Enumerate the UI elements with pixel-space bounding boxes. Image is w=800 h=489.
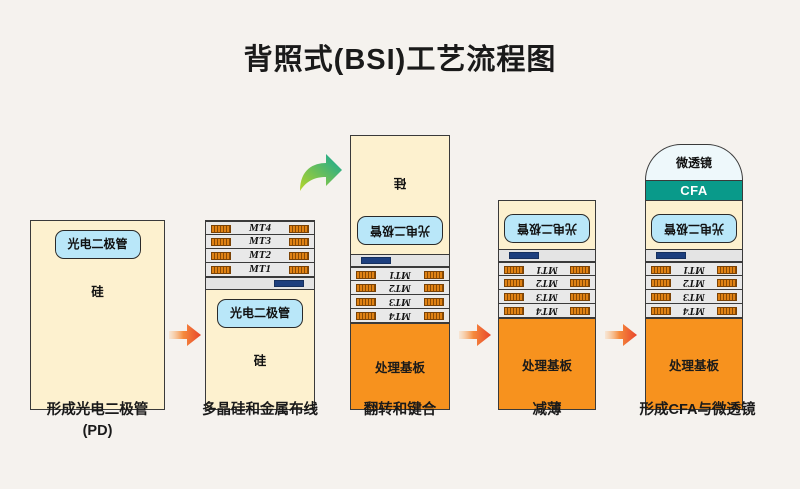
metal-label: MT1 [683, 264, 705, 275]
via-icon [651, 293, 671, 301]
metal-layer-mt1: MT1 [206, 263, 314, 277]
caption-step-3: 翻转和键合 [340, 400, 460, 421]
handle-substrate: 处理基板 [499, 318, 595, 409]
arrow-step1-to-step2 [168, 322, 202, 348]
metal-label: MT4 [536, 305, 558, 316]
step-1-stack: 光电二极管 硅 [30, 220, 165, 410]
via-icon [356, 284, 376, 292]
via-icon [717, 266, 737, 274]
poly-layer [646, 249, 742, 262]
via-icon [717, 279, 737, 287]
metal-stack-flipped: MT1 MT2 MT3 MT4 [351, 267, 449, 323]
metal-layer-mt3: MT3 [206, 235, 314, 249]
caption-step-1: 形成光电二极管 (PD) [10, 400, 185, 442]
metal-layer-mt4: MT4 [646, 304, 742, 318]
caption-line-1: 翻转和键合 [340, 400, 460, 421]
photodiode-box: 光电二极管 [357, 216, 443, 245]
via-icon [717, 293, 737, 301]
arrow-step3-to-step4 [458, 322, 492, 348]
metal-label: MT3 [389, 296, 411, 307]
cfa-layer: CFA [646, 181, 742, 201]
caption-line-2: (PD) [10, 421, 185, 442]
step-4: 光电二极管 MT1 MT2 [498, 125, 596, 410]
caption-step-2: 多晶硅和金属布线 [180, 400, 340, 421]
metal-label: MT2 [389, 282, 411, 293]
metal-label: MT3 [536, 291, 558, 302]
metal-layer-mt2: MT2 [206, 249, 314, 263]
metal-stack: MT4 MT3 MT2 MT1 [206, 221, 314, 277]
silicon-label: 硅 [91, 281, 104, 300]
metal-layer-mt4: MT4 [351, 309, 449, 323]
photodiode-box: 光电二极管 [55, 230, 141, 259]
caption-line-1: 多晶硅和金属布线 [180, 400, 340, 421]
arrow-step4-to-step5 [604, 322, 638, 348]
metal-layer-mt1: MT1 [646, 262, 742, 276]
silicon-layer: 光电二极管 硅 [31, 221, 164, 409]
via-icon [570, 307, 590, 315]
caption-line-1: 减薄 [492, 400, 602, 421]
page-title: 背照式(BSI)工艺流程图 [0, 36, 800, 78]
step-1: 光电二极管 硅 [30, 125, 165, 410]
metal-label: MT3 [249, 236, 271, 247]
metal-layer-mt2: MT2 [499, 276, 595, 290]
via-icon [211, 252, 231, 260]
via-icon [504, 293, 524, 301]
metal-label: MT4 [389, 310, 411, 321]
metal-label: MT4 [249, 223, 271, 234]
via-icon [211, 225, 231, 233]
silicon-label: 硅 [394, 175, 407, 194]
via-icon [651, 307, 671, 315]
via-icon [424, 312, 444, 320]
poly-layer [499, 249, 595, 262]
silicon-layer-thinned: 光电二极管 [499, 201, 595, 249]
metal-layer-mt1: MT1 [351, 267, 449, 281]
metal-layer-mt3: MT3 [646, 290, 742, 304]
metal-layer-mt4: MT4 [499, 304, 595, 318]
via-icon [651, 279, 671, 287]
diagram-stage: 光电二极管 硅 [0, 100, 800, 410]
step-5: 微透镜 CFA 光电二极管 MT1 MT2 [645, 125, 743, 410]
poly-layer [351, 254, 449, 267]
metal-layer-mt2: MT2 [351, 281, 449, 295]
via-icon [289, 266, 309, 274]
metal-label: MT2 [683, 277, 705, 288]
metal-label: MT2 [249, 250, 271, 261]
metal-layer-mt3: MT3 [499, 290, 595, 304]
metal-layer-mt1: MT1 [499, 262, 595, 276]
metal-stack-flipped: MT1 MT2 MT3 MT4 [646, 262, 742, 318]
via-icon [289, 252, 309, 260]
step-3-stack: 光电二极管 硅 MT1 MT2 [350, 135, 450, 410]
poly-gate-block [656, 252, 686, 259]
metal-label: MT1 [536, 264, 558, 275]
photodiode-box: 光电二极管 [504, 214, 590, 243]
microlens-dome: 微透镜 [645, 144, 743, 180]
via-icon [651, 266, 671, 274]
via-icon [289, 238, 309, 246]
metal-label: MT3 [683, 291, 705, 302]
via-icon [570, 279, 590, 287]
via-icon [424, 284, 444, 292]
metal-layer-mt4: MT4 [206, 221, 314, 235]
via-icon [356, 271, 376, 279]
via-icon [356, 298, 376, 306]
via-icon [570, 266, 590, 274]
silicon-layer: 光电二极管 硅 [206, 290, 314, 409]
via-icon [211, 238, 231, 246]
poly-layer [206, 277, 314, 290]
via-icon [211, 266, 231, 274]
via-icon [424, 271, 444, 279]
metal-layer-mt2: MT2 [646, 276, 742, 290]
caption-step-4: 减薄 [492, 400, 602, 421]
via-icon [504, 266, 524, 274]
handle-substrate: 处理基板 [351, 323, 449, 409]
poly-gate-block [509, 252, 539, 259]
via-icon [356, 312, 376, 320]
metal-label: MT1 [249, 264, 271, 275]
metal-label: MT4 [683, 305, 705, 316]
via-icon [504, 279, 524, 287]
silicon-layer-thinned: 光电二极管 [646, 201, 742, 249]
caption-step-5: 形成CFA与微透镜 [620, 400, 775, 421]
via-icon [289, 225, 309, 233]
step-3: 光电二极管 硅 MT1 MT2 [350, 125, 450, 410]
via-icon [570, 293, 590, 301]
via-icon [717, 307, 737, 315]
caption-line-1: 形成CFA与微透镜 [620, 400, 775, 421]
caption-line-1: 形成光电二极管 [10, 400, 185, 421]
process-flow-diagram: 背照式(BSI)工艺流程图 光电二极管 硅 [0, 0, 800, 489]
poly-gate-block [274, 280, 304, 287]
metal-label: MT1 [389, 269, 411, 280]
step-2-stack: MT4 MT3 MT2 MT1 [205, 220, 315, 410]
via-icon [424, 298, 444, 306]
step-4-stack: 光电二极管 MT1 MT2 [498, 200, 596, 410]
photodiode-box: 光电二极管 [651, 214, 737, 243]
step-5-stack: CFA 光电二极管 MT1 MT2 [645, 180, 743, 410]
photodiode-box: 光电二极管 [217, 299, 303, 328]
metal-stack-flipped: MT1 MT2 MT3 MT4 [499, 262, 595, 318]
flip-arrow-step2-to-step3 [296, 151, 344, 195]
metal-label: MT2 [536, 277, 558, 288]
silicon-layer-flipped: 光电二极管 硅 [351, 136, 449, 254]
handle-substrate: 处理基板 [646, 318, 742, 409]
silicon-label: 硅 [254, 350, 267, 369]
poly-gate-block [361, 257, 391, 264]
via-icon [504, 307, 524, 315]
metal-layer-mt3: MT3 [351, 295, 449, 309]
